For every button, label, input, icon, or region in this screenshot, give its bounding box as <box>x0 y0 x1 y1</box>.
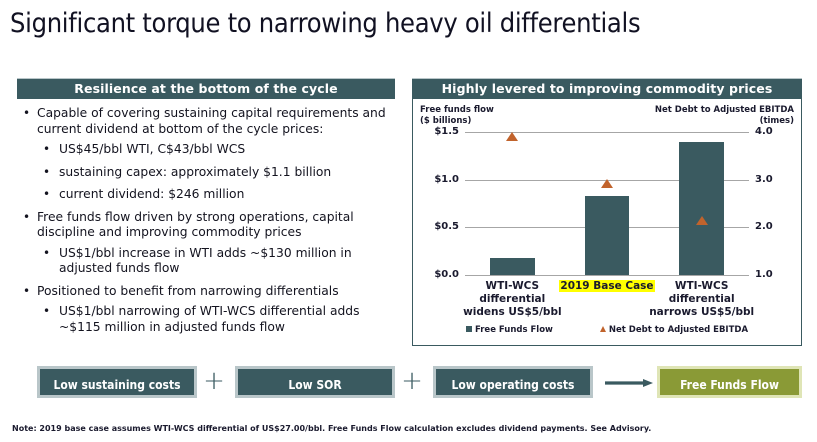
list-item: • current dividend: $246 million <box>37 187 395 203</box>
y-axis-tick-right: 3.0 <box>755 175 773 185</box>
bullet-text: Capable of covering sustaining capital r… <box>37 106 386 136</box>
list-item: • Free funds flow driven by strong opera… <box>17 210 395 277</box>
legend-label: Net Debt to Adjusted EBITDA <box>609 325 748 335</box>
bar-0 <box>490 258 534 275</box>
list-item: • sustaining capex: approximately $1.1 b… <box>37 165 395 181</box>
left-panel-header: Resilience at the bottom of the cycle <box>17 78 395 99</box>
square-marker-icon <box>466 326 472 332</box>
left-axis-label: Free funds flow <box>420 105 494 116</box>
bullet-dot-icon: • <box>43 304 50 320</box>
chart-panel: Highly levered to improving commodity pr… <box>412 78 802 346</box>
legend-label: Free Funds Flow <box>475 325 553 335</box>
marker-1 <box>601 179 613 188</box>
category-label-line: widens US$5/bbl <box>457 306 568 319</box>
flow-box-label: Free Funds Flow <box>680 378 779 392</box>
legend-item-free-funds-flow: Free Funds Flow <box>466 325 553 335</box>
flow-box-low-sor[interactable]: Low SOR <box>235 366 395 398</box>
marker-0 <box>506 132 518 141</box>
list-item: • US$1/bbl increase in WTI adds ~$130 mi… <box>37 246 395 277</box>
bar-2 <box>679 142 723 275</box>
chart-body: Free funds flow ($ billions) Net Debt to… <box>412 99 802 346</box>
bar-1 <box>585 196 629 275</box>
flow-box-label: Low sustaining costs <box>53 378 180 392</box>
list-item: • Positioned to benefit from narrowing d… <box>17 284 395 336</box>
flow-diagram: Low sustaining costs + Low SOR + Low ope… <box>17 366 800 400</box>
y-axis-tick-left: $1.0 <box>434 175 459 185</box>
page-title: Significant torque to narrowing heavy oi… <box>10 8 807 39</box>
category-label-line: WTI-WCS differential <box>646 280 757 306</box>
bullet-text: sustaining capex: approximately $1.1 bil… <box>59 165 331 179</box>
sub-bullet-list: • US$1/bbl increase in WTI adds ~$130 mi… <box>37 246 395 277</box>
bullet-dot-icon: • <box>23 284 30 300</box>
bullet-dot-icon: • <box>43 142 50 158</box>
bullet-text: Positioned to benefit from narrowing dif… <box>37 284 339 298</box>
bullet-text: US$1/bbl increase in WTI adds ~$130 mill… <box>59 246 352 276</box>
bullet-text: Free funds flow driven by strong operati… <box>37 210 354 240</box>
bullet-text: current dividend: $246 million <box>59 187 244 201</box>
left-panel: Resilience at the bottom of the cycle • … <box>17 78 395 342</box>
y-axis-tick-left: $1.5 <box>434 127 459 137</box>
category-label-line: narrows US$5/bbl <box>646 306 757 319</box>
bullet-list: • Capable of covering sustaining capital… <box>17 99 395 335</box>
triangle-marker-icon <box>600 326 606 332</box>
bullet-dot-icon: • <box>43 246 50 262</box>
flow-box-low-operating-costs[interactable]: Low operating costs <box>433 366 593 398</box>
right-axis-caption: Net Debt to Adjusted EBITDA (times) <box>655 105 794 127</box>
sub-bullet-list: • US$1/bbl narrowing of WTI-WCS differen… <box>37 304 395 335</box>
y-axis-tick-right: 1.0 <box>755 270 773 280</box>
footnote: Note: 2019 base case assumes WTI-WCS dif… <box>12 424 651 433</box>
marker-2 <box>696 216 708 225</box>
plus-operator-icon: + <box>401 366 423 398</box>
arrow-right-icon <box>605 379 653 387</box>
flow-box-low-sustaining-costs[interactable]: Low sustaining costs <box>37 366 197 398</box>
category-label-2: WTI-WCS differentialnarrows US$5/bbl <box>646 280 757 319</box>
highlighted-label: 2019 Base Case <box>559 280 654 292</box>
bullet-dot-icon: • <box>43 165 50 181</box>
y-axis-tick-right: 4.0 <box>755 127 773 137</box>
flow-box-free-funds-flow[interactable]: Free Funds Flow <box>657 366 802 398</box>
bullet-dot-icon: • <box>43 187 50 203</box>
y-axis-tick-right: 2.0 <box>755 222 773 232</box>
left-axis-caption: Free funds flow ($ billions) <box>420 105 494 127</box>
flow-box-label: Low operating costs <box>452 378 575 392</box>
bullet-text: US$45/bbl WTI, C$43/bbl WCS <box>59 142 245 156</box>
y-axis-tick-left: $0.5 <box>434 222 459 232</box>
y-axis-tick-left: $0.0 <box>434 270 459 280</box>
legend-item-net-debt-ebitda: Net Debt to Adjusted EBITDA <box>600 325 748 335</box>
bullet-dot-icon: • <box>23 210 30 226</box>
right-axis-units: (times) <box>655 116 794 127</box>
plus-operator-icon: + <box>203 366 225 398</box>
chart-panel-header: Highly levered to improving commodity pr… <box>412 78 802 99</box>
bullet-text: US$1/bbl narrowing of WTI-WCS differenti… <box>59 304 360 334</box>
list-item: • US$45/bbl WTI, C$43/bbl WCS <box>37 142 395 158</box>
chart-legend: Free Funds Flow Net Debt to Adjusted EBI… <box>413 325 801 335</box>
sub-bullet-list: • US$45/bbl WTI, C$43/bbl WCS • sustaini… <box>37 142 395 203</box>
list-item: • US$1/bbl narrowing of WTI-WCS differen… <box>37 304 395 335</box>
bullet-dot-icon: • <box>23 106 30 122</box>
gridline <box>465 275 749 276</box>
list-item: • Capable of covering sustaining capital… <box>17 106 395 203</box>
right-axis-label: Net Debt to Adjusted EBITDA <box>655 105 794 116</box>
flow-box-label: Low SOR <box>288 378 341 392</box>
plot-area: $1.54.0$1.03.0$0.52.0$0.01.0WTI-WCS diff… <box>465 132 749 275</box>
